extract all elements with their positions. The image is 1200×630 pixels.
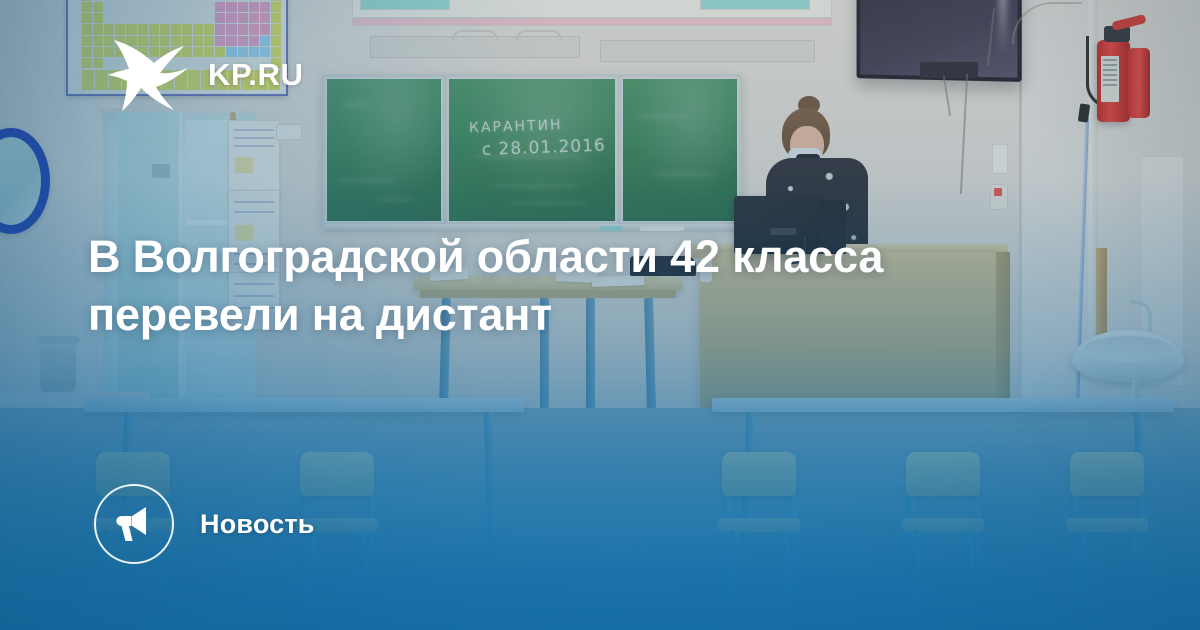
brand-name: KP.RU (208, 57, 303, 93)
brand-logo[interactable]: KP.RU (108, 38, 303, 112)
swallow-bird-icon (108, 38, 194, 112)
page-title: В Волгоградской области 42 класса переве… (88, 228, 968, 343)
megaphone-icon (94, 484, 174, 564)
status-badge[interactable]: Новость (94, 484, 315, 564)
badge-label: Новость (200, 509, 315, 540)
news-share-card: КАРАНТИН с 28.01.2016 (0, 0, 1200, 630)
